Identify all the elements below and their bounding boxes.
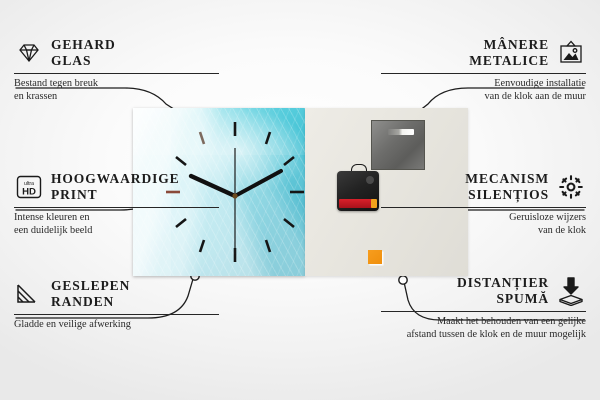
feature-print-title: HOOGWAARDIGE PRINT bbox=[51, 171, 180, 203]
silent-clock-mechanism bbox=[337, 171, 379, 211]
feature-edges-rule bbox=[14, 314, 219, 315]
foam-spacer-pad bbox=[368, 250, 382, 264]
clock-minute-hand bbox=[235, 171, 281, 196]
feature-mechanism-rule bbox=[381, 207, 586, 208]
svg-text:HD: HD bbox=[22, 187, 36, 198]
feature-print-description: Intense kleuren en een duidelijk beeld bbox=[14, 211, 219, 237]
feature-edges-title: GESLEPEN RANDEN bbox=[51, 278, 130, 310]
feature-edges-header: GESLEPEN RANDEN bbox=[14, 277, 219, 311]
feature-glass: GEHARD GLAS Bestand tegen breuk en krass… bbox=[14, 36, 219, 103]
feature-spacer-header: DISTANȚIER SPUMĂ bbox=[381, 274, 586, 308]
feature-spacer-rule bbox=[381, 311, 586, 312]
feature-spacer-description: Maakt het behouden van een gelijke afsta… bbox=[381, 315, 586, 341]
feature-glass-rule bbox=[14, 73, 219, 74]
gear-icon bbox=[556, 172, 586, 202]
metal-hanger-plate bbox=[371, 120, 425, 170]
feature-hangers: MÂNERE METALICE Eenvoudige installatie v… bbox=[381, 36, 586, 103]
feature-glass-title: GEHARD GLAS bbox=[51, 37, 116, 69]
feature-mechanism: MECANISM SILENȚIOS Geruisloze wijzers va… bbox=[381, 170, 586, 237]
hanger-slot bbox=[388, 129, 414, 135]
foam-spacer-icon bbox=[556, 276, 586, 306]
mechanism-set-dial bbox=[366, 176, 374, 184]
feature-print-header: ultra HD HOOGWAARDIGE PRINT bbox=[14, 170, 219, 204]
feature-print-rule bbox=[14, 207, 219, 208]
diamond-icon bbox=[14, 38, 44, 68]
ground-edges-icon bbox=[14, 279, 44, 309]
feature-glass-description: Bestand tegen breuk en krassen bbox=[14, 77, 219, 103]
battery-terminal bbox=[371, 199, 377, 208]
feature-hangers-description: Eenvoudige installatie van de klok aan d… bbox=[381, 77, 586, 103]
feature-mechanism-header: MECANISM SILENȚIOS bbox=[381, 170, 586, 204]
infographic-canvas: GEHARD GLAS Bestand tegen breuk en krass… bbox=[0, 0, 600, 400]
feature-spacer: DISTANȚIER SPUMĂ Maakt het behouden van … bbox=[381, 274, 586, 341]
feature-mechanism-description: Geruisloze wijzers van de klok bbox=[381, 211, 586, 237]
feature-hangers-rule bbox=[381, 73, 586, 74]
clock-center-cap bbox=[232, 193, 237, 198]
feature-hangers-header: MÂNERE METALICE bbox=[381, 36, 586, 70]
battery bbox=[339, 199, 373, 208]
ultra-hd-icon: ultra HD bbox=[14, 172, 44, 202]
feature-spacer-title: DISTANȚIER SPUMĂ bbox=[457, 275, 549, 307]
feature-print: ultra HD HOOGWAARDIGE PRINT Intense kleu… bbox=[14, 170, 219, 237]
feature-edges: GESLEPEN RANDEN Gladde en veilige afwerk… bbox=[14, 277, 219, 331]
feature-mechanism-title: MECANISM SILENȚIOS bbox=[465, 171, 549, 203]
feature-hangers-title: MÂNERE METALICE bbox=[469, 37, 549, 69]
feature-glass-header: GEHARD GLAS bbox=[14, 36, 219, 70]
framed-picture-icon bbox=[556, 38, 586, 68]
feature-edges-description: Gladde en veilige afwerking bbox=[14, 318, 219, 331]
